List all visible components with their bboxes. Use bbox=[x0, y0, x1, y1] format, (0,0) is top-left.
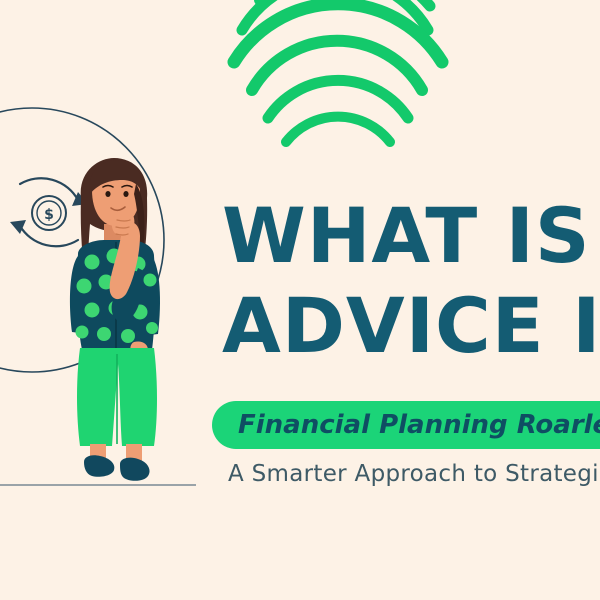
headline-line-1: WHAT IS bbox=[222, 192, 600, 280]
poster-canvas: $ bbox=[0, 0, 600, 600]
thinking-woman-illustration bbox=[48, 150, 178, 490]
headline-block: WHAT IS ADVICE I bbox=[222, 192, 600, 370]
tagline-text: A Smarter Approach to Strategic Mon bbox=[228, 461, 600, 487]
ground-line bbox=[0, 484, 196, 486]
subtitle-pill: Financial Planning Roarleveraging bbox=[212, 401, 600, 449]
headline-line-2: ADVICE I bbox=[222, 282, 600, 370]
subtitle-pill-text: Financial Planning Roarleveraging bbox=[238, 410, 600, 440]
